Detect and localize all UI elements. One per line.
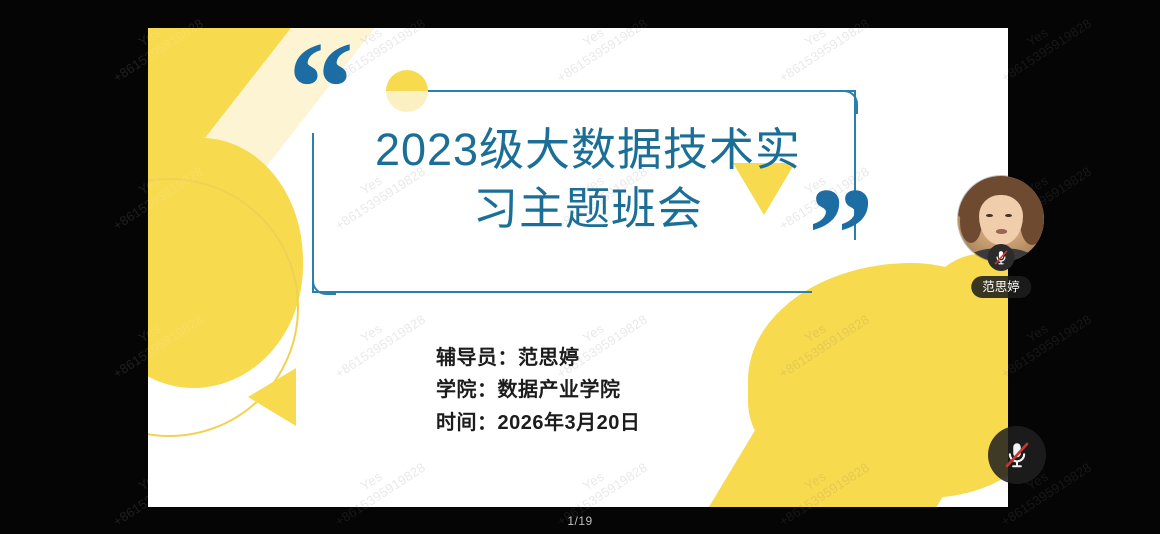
meeting-video-stage: “ ” 2023级大数据技术实 习主题班会 辅导员：范思婷 学院：数据产业学院 … <box>0 0 1160 534</box>
half-circle-top-decoration <box>386 70 428 91</box>
avatar-mouth <box>996 229 1007 233</box>
frame-line-bottom <box>312 291 812 293</box>
mute-microphone-button[interactable] <box>988 426 1046 484</box>
slide-meta-block: 辅导员：范思婷 学院：数据产业学院 时间：2026年3月20日 <box>436 342 640 439</box>
microphone-muted-icon <box>988 244 1015 271</box>
yellow-triangle-left-decoration <box>248 368 296 426</box>
frame-line-top <box>386 90 856 92</box>
avatar-hair-right <box>1020 198 1044 244</box>
half-circle-bottom-decoration <box>386 91 428 112</box>
yellow-dot-left-decoration <box>208 336 226 354</box>
participant-name-label: 范思婷 <box>971 276 1031 299</box>
slide-page-indicator: 1/19 <box>0 514 1160 528</box>
slide-title: 2023级大数据技术实 习主题班会 <box>328 120 848 239</box>
meta-date: 时间：2026年3月20日 <box>436 407 640 439</box>
shared-slide[interactable]: “ ” 2023级大数据技术实 习主题班会 辅导员：范思婷 学院：数据产业学院 … <box>148 28 1008 507</box>
participant-tile[interactable]: 范思婷 <box>958 176 1044 262</box>
slide-title-line-1: 2023级大数据技术实 <box>328 120 848 179</box>
yellow-dot-right-decoration <box>788 378 806 396</box>
meta-college: 学院：数据产业学院 <box>436 374 640 406</box>
slide-title-line-2: 习主题班会 <box>328 179 848 238</box>
microphone-muted-icon <box>1002 440 1032 470</box>
meta-instructor: 辅导员：范思婷 <box>436 342 640 374</box>
